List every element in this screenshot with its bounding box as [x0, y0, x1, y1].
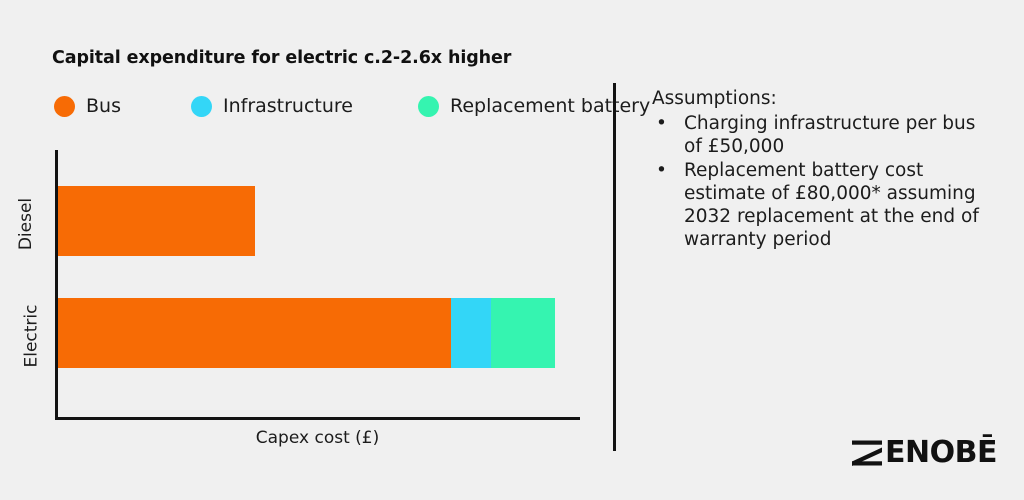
assumption-item: • Charging infrastructure per bus of £50…: [652, 113, 992, 159]
bullet-icon: •: [656, 113, 667, 136]
x-axis-line: [55, 417, 580, 420]
assumption-text: Replacement battery cost estimate of £80…: [684, 160, 979, 250]
bar-segment-diesel-bus[interactable]: [58, 186, 255, 256]
x-axis-label: Capex cost (£): [55, 428, 580, 448]
bar-segment-electric-bus[interactable]: [58, 298, 451, 368]
assumptions-panel: Assumptions: • Charging infrastructure p…: [652, 88, 992, 252]
zenobe-logo: ENOBĒ: [852, 436, 997, 470]
vertical-divider: [613, 83, 616, 451]
bullet-icon: •: [656, 160, 667, 183]
y-tick-label-diesel: Diesel: [0, 214, 52, 234]
bar-electric[interactable]: [58, 298, 555, 368]
zenobe-z-mark-icon: [852, 440, 882, 466]
assumption-text: Charging infrastructure per bus of £50,0…: [684, 113, 975, 157]
zenobe-logo-text: ENOBĒ: [885, 438, 997, 468]
assumptions-heading: Assumptions:: [652, 88, 992, 111]
plot-area: Diesel Electric Capex cost (£): [0, 0, 620, 500]
y-tick-label-electric: Electric: [0, 326, 52, 346]
bar-segment-electric-replacement-battery[interactable]: [491, 298, 555, 368]
chart-slide: Capital expenditure for electric c.2-2.6…: [0, 0, 1024, 500]
bar-diesel[interactable]: [58, 186, 255, 256]
bar-segment-electric-infrastructure[interactable]: [451, 298, 491, 368]
assumption-item: • Replacement battery cost estimate of £…: [652, 160, 992, 252]
